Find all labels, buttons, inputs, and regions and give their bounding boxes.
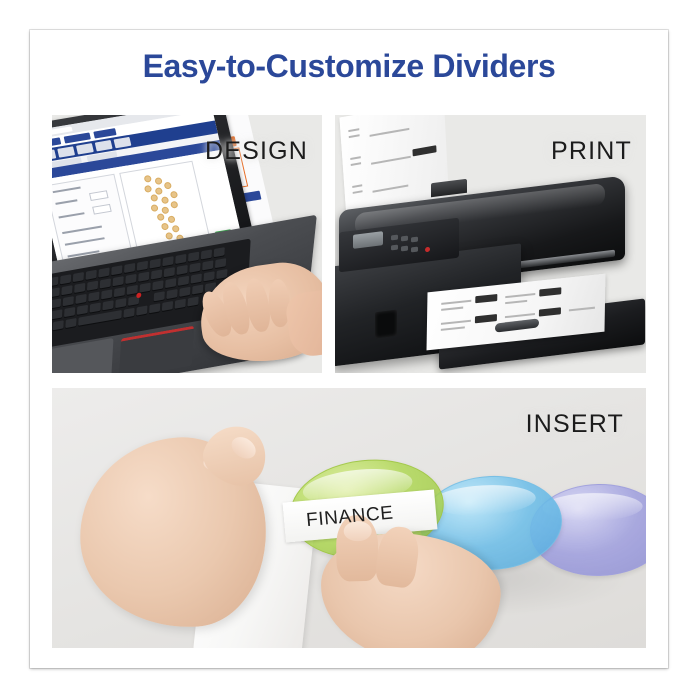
printer-button bbox=[411, 247, 418, 253]
printer-button bbox=[401, 236, 408, 242]
printer-button bbox=[401, 246, 408, 252]
form-label bbox=[65, 237, 105, 245]
trackpoint-icon bbox=[136, 292, 141, 298]
panel-insert: FINANCE INSERT bbox=[52, 388, 646, 648]
tab-gloss bbox=[431, 483, 536, 518]
panel-label-insert: INSERT bbox=[526, 410, 624, 439]
product-card: Easy-to-Customize Dividers bbox=[30, 30, 668, 668]
form-input bbox=[89, 190, 109, 201]
printer-button bbox=[411, 237, 418, 243]
form-label bbox=[62, 226, 102, 234]
form-label bbox=[53, 187, 81, 193]
panel-print: PRINT bbox=[335, 115, 646, 373]
panel-design: DESIGN bbox=[52, 115, 322, 373]
printer-button bbox=[391, 245, 398, 251]
panel-label-design: DESIGN bbox=[205, 137, 308, 166]
screenshot-root: Easy-to-Customize Dividers bbox=[0, 0, 700, 700]
printer-card-slot bbox=[375, 310, 397, 339]
page-title: Easy-to-Customize Dividers bbox=[30, 48, 668, 85]
form-label bbox=[55, 199, 77, 204]
form-label bbox=[58, 212, 84, 218]
form-input bbox=[92, 204, 112, 215]
printer-button bbox=[391, 235, 398, 241]
panel-label-print: PRINT bbox=[551, 137, 632, 166]
